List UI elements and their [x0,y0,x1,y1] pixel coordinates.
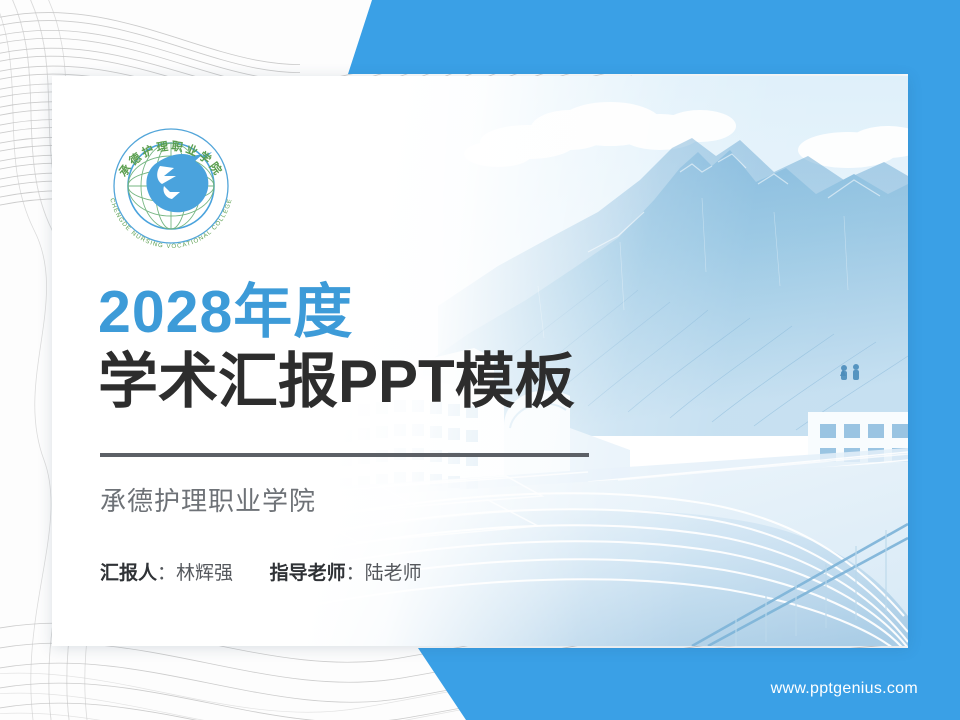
slide-content-card: 承德护理职业学院 CHENGDE NURSING VOCATIONAL COLL… [52,76,908,646]
title-text-block: 2028年度 学术汇报PPT模板 承德护理职业学院 汇报人：林辉强 指导老师：陆… [98,282,658,585]
advisor-separator: ： [346,563,365,584]
school-logo: 承德护理职业学院 CHENGDE NURSING VOCATIONAL COLL… [100,106,242,256]
footer-website-url[interactable]: www.pptgenius.com [771,680,918,698]
reporter-label: 汇报人 [100,563,157,584]
presenter-row: 汇报人：林辉强 指导老师：陆老师 [100,558,658,585]
title-divider [100,453,589,457]
organization-name: 承德护理职业学院 [100,481,658,518]
presentation-slide: 承德护理职业学院 CHENGDE NURSING VOCATIONAL COLL… [0,0,960,720]
advisor-name: 陆老师 [365,563,422,584]
title-year: 2028年度 [98,282,658,342]
advisor-label: 指导老师 [270,563,346,584]
reporter-name: 林辉强 [176,563,233,584]
reporter-separator: ： [157,563,176,584]
title-main: 学术汇报PPT模板 [98,350,658,415]
